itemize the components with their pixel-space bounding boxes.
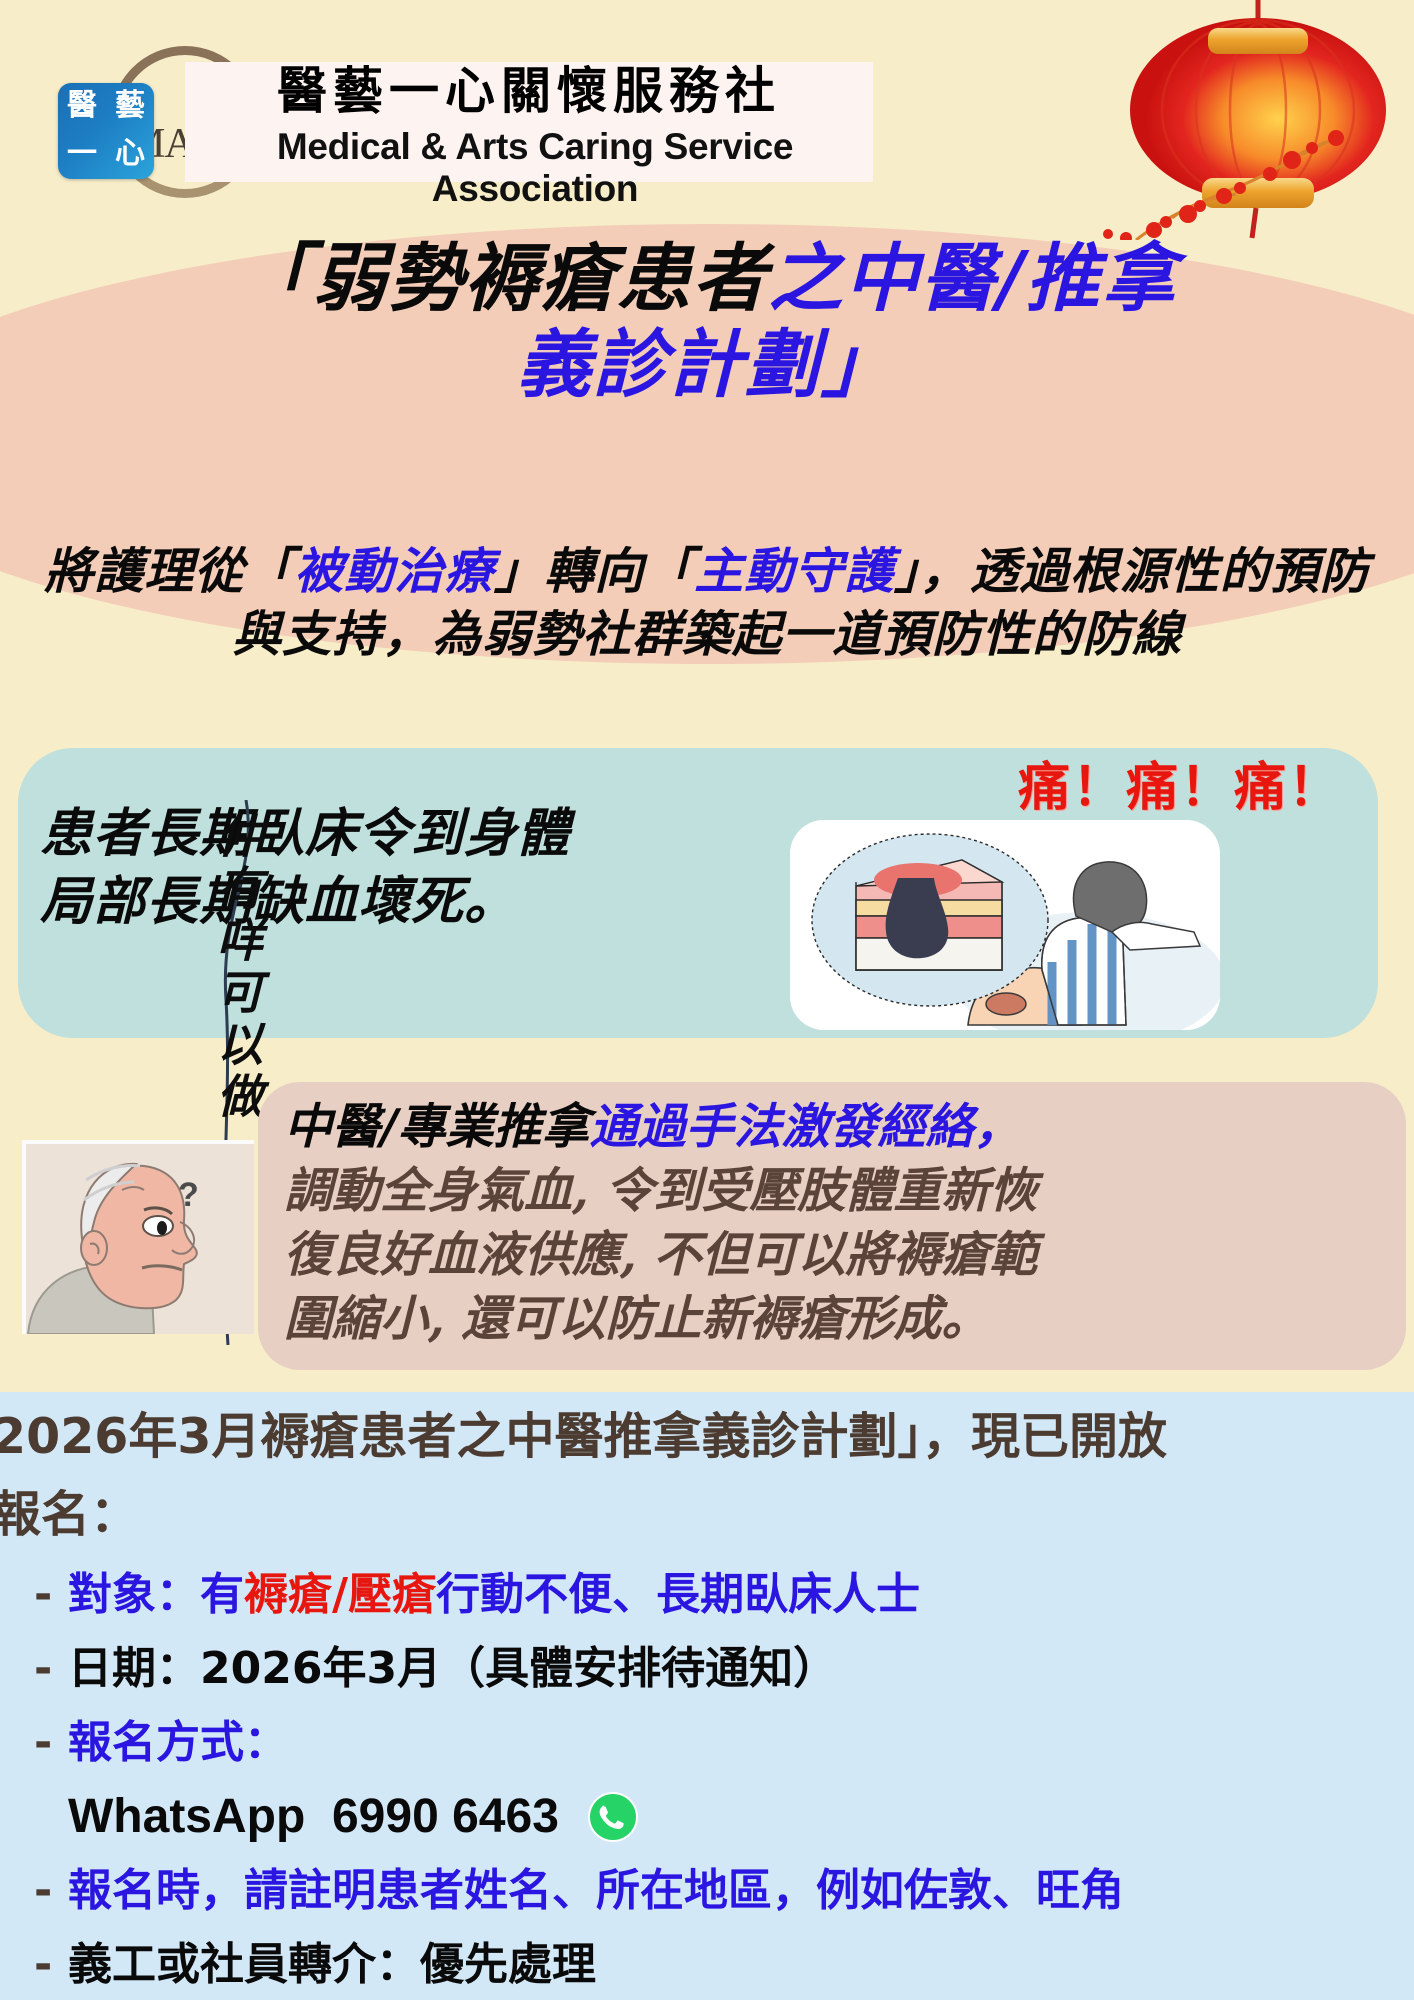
solution-line-2: 調動全身氣血, 令到受壓肢體重新恢 bbox=[284, 1159, 1394, 1223]
problem-text: 患者長期臥床令到身體 局部長期缺血壞死。 bbox=[40, 800, 680, 936]
org-name-english: Medical & Arts Caring Service Associatio… bbox=[185, 126, 885, 210]
audience-condition: 褥瘡/壓瘡 bbox=[244, 1569, 436, 1620]
svg-text:?: ? bbox=[178, 1176, 199, 1214]
logo-mark: 醫 藝 一 心 bbox=[58, 83, 154, 179]
intro-highlight-active: 主動守護 bbox=[694, 542, 894, 600]
solution-line-3: 復良好血液供應, 不但可以將褥瘡範 bbox=[284, 1223, 1394, 1287]
whatsapp-contact[interactable]: WhatsApp 6990 6463 bbox=[34, 1780, 1414, 1854]
list-item: -對象：有褥瘡/壓瘡行動不便、長期臥床人士 bbox=[34, 1558, 1414, 1632]
pain-shout-text: 痛！痛！痛！ bbox=[1018, 745, 1342, 820]
intro-seg-1: 將護理從「 bbox=[44, 542, 294, 600]
bullet-dash: - bbox=[34, 1558, 68, 1632]
logo-char-2: 藝 bbox=[115, 91, 145, 121]
callout-vertical-text: 仲有咩可以做 bbox=[212, 812, 262, 1124]
solution-line-4: 圍縮小, 還可以防止新褥瘡形成。 bbox=[284, 1287, 1394, 1351]
list-item: -報名時，請註明患者姓名、所在地區，例如佐敦、旺角 bbox=[34, 1854, 1414, 1928]
list-item: -日期：2026年3月（具體安排待通知） bbox=[34, 1632, 1414, 1706]
registration-headline-line2: 報名： bbox=[0, 1476, 1412, 1554]
registration-details: -對象：有褥瘡/壓瘡行動不便、長期臥床人士 -日期：2026年3月（具體安排待通… bbox=[34, 1558, 1414, 2000]
solution-line1-blue: 通過手法激發經絡， bbox=[590, 1099, 1022, 1155]
bullet-dash: - bbox=[34, 1928, 68, 2000]
whatsapp-number: 6990 6463 bbox=[332, 1790, 559, 1843]
intro-highlight-passive: 被動治療 bbox=[294, 542, 494, 600]
list-item: -報名方式： bbox=[34, 1706, 1414, 1780]
header: MACSA 醫 藝 一 心 醫藝一心關懷服務社 Medical & Arts C… bbox=[0, 0, 1414, 215]
title-line1-black: 「弱勢褥瘡患者 bbox=[236, 236, 768, 322]
priority-note: 義工或社員轉介：優先處理 bbox=[68, 1939, 596, 1990]
chinese-lantern-icon bbox=[940, 0, 1414, 240]
puzzled-elderly-man-illustration: ? bbox=[22, 1140, 254, 1334]
intro-paragraph: 將護理從「被動治療」轉向「主動守護」，透過根源性的預防與支持，為弱勢社群築起一道… bbox=[30, 540, 1384, 666]
list-item: -義工或社員轉介：優先處理 bbox=[34, 1928, 1414, 2000]
whatsapp-label: WhatsApp bbox=[68, 1790, 305, 1843]
logo-char-3: 一 bbox=[67, 139, 97, 169]
audience-description: 行動不便、長期臥床人士 bbox=[436, 1569, 920, 1620]
title-line2-blue: 義診計劃」 bbox=[517, 322, 897, 408]
event-date: 日期：2026年3月（具體安排待通知） bbox=[68, 1643, 837, 1694]
problem-text-line2: 局部長期缺血壞死。 bbox=[40, 868, 680, 936]
audience-label: 對象：有 bbox=[68, 1569, 244, 1620]
poster-root: MACSA 醫 藝 一 心 醫藝一心關懷服務社 Medical & Arts C… bbox=[0, 0, 1414, 2000]
problem-text-line1: 患者長期臥床令到身體 bbox=[40, 800, 680, 868]
registration-headline: 2026年3月褥瘡患者之中醫推拿義診計劃」，現已開放 報名： bbox=[0, 1398, 1412, 1554]
solution-line1-black: 中醫/專業推拿 bbox=[284, 1099, 590, 1155]
logo-char-4: 心 bbox=[115, 139, 145, 169]
solution-text: 中醫/專業推拿通過手法激發經絡， 調動全身氣血, 令到受壓肢體重新恢 復良好血液… bbox=[284, 1095, 1394, 1351]
pressure-ulcer-illustration bbox=[790, 820, 1220, 1030]
poster-title: 「弱勢褥瘡患者之中醫/推拿 義診計劃」 bbox=[60, 236, 1354, 408]
bullet-dash: - bbox=[34, 1706, 68, 1780]
whatsapp-icon[interactable] bbox=[586, 1790, 640, 1844]
registration-headline-line1: 2026年3月褥瘡患者之中醫推拿義診計劃」，現已開放 bbox=[0, 1398, 1412, 1476]
org-name-chinese: 醫藝一心關懷服務社 bbox=[185, 62, 873, 120]
title-line1-blue: 之中醫/推拿 bbox=[768, 236, 1177, 322]
solution-line-1: 中醫/專業推拿通過手法激發經絡， bbox=[284, 1095, 1394, 1159]
logo-char-1: 醫 bbox=[67, 91, 97, 121]
bullet-dash: - bbox=[34, 1854, 68, 1928]
bullet-dash: - bbox=[34, 1632, 68, 1706]
intro-seg-2: 」轉向「 bbox=[494, 542, 694, 600]
signup-method-label: 報名方式： bbox=[68, 1717, 288, 1768]
registration-note: 報名時，請註明患者姓名、所在地區，例如佐敦、旺角 bbox=[68, 1865, 1124, 1916]
